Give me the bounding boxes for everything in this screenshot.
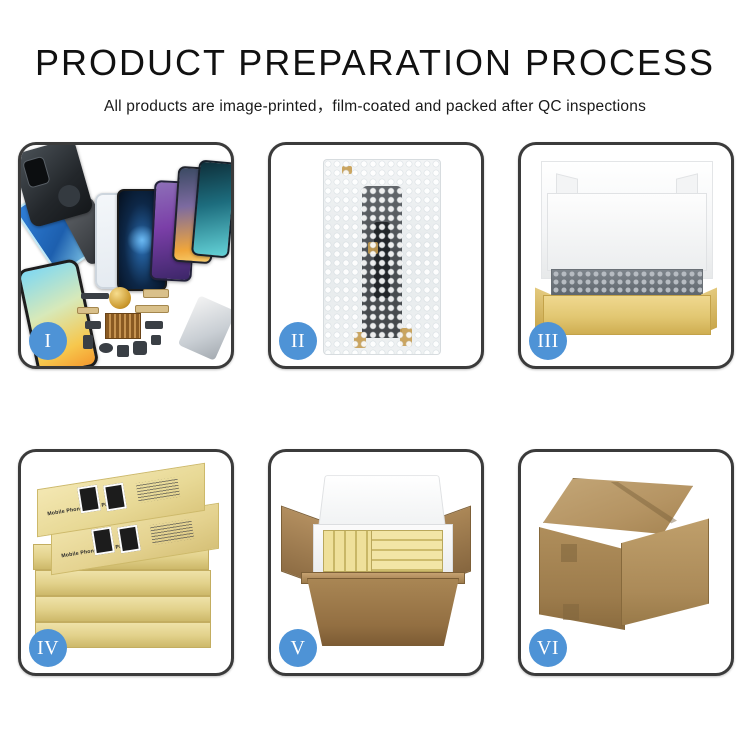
step-badge-2: II <box>279 322 317 360</box>
small-component-image <box>83 335 93 349</box>
bubble-texture <box>324 160 440 354</box>
carton-front-panel <box>307 578 459 646</box>
step-badge-4: IV <box>29 629 67 667</box>
screen-swatch-image <box>91 527 115 556</box>
packing-tape-icon <box>561 544 577 562</box>
screen-swatch-image <box>103 483 127 512</box>
process-step-panel-4: Mobile Phone Spare Parts Mobile Phone Sp… <box>18 449 234 676</box>
process-step-panel-5: V <box>268 449 484 676</box>
bubble-wrap-bag-image <box>323 159 441 355</box>
screen-swatch-image <box>117 525 141 554</box>
process-step-panel-3: III <box>518 142 734 369</box>
packing-tape-icon <box>563 604 579 620</box>
screen-swatch-image <box>77 485 101 514</box>
small-component-image <box>145 321 163 329</box>
process-step-grid: I II <box>18 142 734 676</box>
step-badge-3: III <box>529 322 567 360</box>
panel-5-illustration: V <box>271 452 481 673</box>
repair-tool-image <box>178 295 231 361</box>
flex-cable-image <box>77 307 99 314</box>
small-component-image <box>151 335 161 345</box>
grey-bubble-padding-image <box>551 269 703 297</box>
panel-2-illustration: II <box>271 145 481 366</box>
page-header: PRODUCT PREPARATION PROCESS All products… <box>0 0 750 130</box>
page-subtitle: All products are image-printed，film-coat… <box>0 94 750 116</box>
process-step-panel-6: VI <box>518 449 734 676</box>
teal-lcd-screen-image <box>191 160 231 259</box>
box-layer <box>35 570 211 596</box>
small-component-image <box>99 343 113 353</box>
small-component-image <box>85 321 101 329</box>
carton-left-face <box>539 518 625 630</box>
kraft-box-front <box>543 295 711 335</box>
panel-1-illustration: I <box>21 145 231 366</box>
small-component-image <box>81 293 109 299</box>
panel-3-illustration: III <box>521 145 731 366</box>
step-badge-5: V <box>279 629 317 667</box>
flex-cable-image <box>135 305 169 313</box>
page-title: PRODUCT PREPARATION PROCESS <box>0 42 750 84</box>
stacked-boxes-image: Mobile Phone Spare Parts Mobile Phone Sp… <box>31 472 223 652</box>
kraft-boxes-inside-image <box>371 530 443 572</box>
flex-cable-image <box>143 289 169 298</box>
panel-4-illustration: Mobile Phone Spare Parts Mobile Phone Sp… <box>21 452 231 673</box>
process-step-panel-1: I <box>18 142 234 369</box>
step-badge-6: VI <box>529 629 567 667</box>
panel-6-illustration: VI <box>521 452 731 673</box>
foam-liner-image <box>547 193 707 271</box>
process-step-panel-2: II <box>268 142 484 369</box>
box-layer <box>35 596 211 622</box>
step-badge-1: I <box>29 322 67 360</box>
gold-connector-icon <box>109 287 131 309</box>
small-component-image <box>117 345 129 357</box>
contact-grid-chip-image <box>105 313 141 339</box>
small-component-image <box>133 341 147 355</box>
